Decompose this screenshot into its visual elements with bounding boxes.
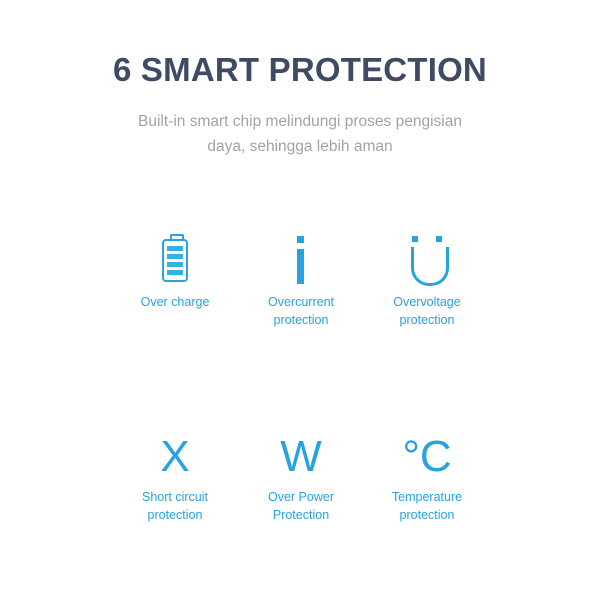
feature-item-overcurrent: Overcurrent protection bbox=[238, 232, 364, 329]
icon-container: °C bbox=[402, 427, 451, 479]
page-subtitle: Built-in smart chip melindungi proses pe… bbox=[135, 110, 465, 160]
feature-label: Over Power Protection bbox=[268, 488, 334, 524]
u-dot-left bbox=[412, 236, 418, 242]
battery-bar bbox=[167, 262, 183, 267]
feature-label: Short circuit protection bbox=[142, 488, 208, 524]
icon-container bbox=[405, 232, 449, 284]
icon-container: W bbox=[280, 427, 322, 479]
feature-item-short-circuit: X Short circuit protection bbox=[112, 427, 238, 524]
battery-bar bbox=[167, 270, 183, 275]
feature-label: Temperature protection bbox=[392, 488, 462, 524]
short-circuit-x-icon: X bbox=[160, 435, 189, 479]
page-title: 6 SMART PROTECTION bbox=[0, 52, 600, 88]
battery-body bbox=[162, 239, 188, 282]
icon-container bbox=[159, 232, 191, 284]
icon-container bbox=[294, 232, 308, 284]
i-dot bbox=[297, 236, 304, 243]
i-stem bbox=[297, 249, 304, 284]
feature-item-over-power: W Over Power Protection bbox=[238, 427, 364, 524]
u-shape bbox=[411, 247, 449, 286]
feature-item-overvoltage: Overvoltage protection bbox=[364, 232, 490, 329]
feature-item-over-charge: Over charge bbox=[112, 232, 238, 329]
feature-label: Over charge bbox=[141, 293, 210, 311]
battery-bar bbox=[167, 254, 183, 259]
voltage-u-icon bbox=[405, 236, 449, 284]
current-i-icon bbox=[294, 236, 308, 284]
battery-icon bbox=[159, 234, 191, 284]
temperature-c-icon: °C bbox=[402, 435, 451, 479]
power-w-icon: W bbox=[280, 435, 322, 479]
header: 6 SMART PROTECTION Built-in smart chip m… bbox=[0, 52, 600, 160]
battery-bar bbox=[167, 246, 183, 251]
protection-feature-grid: Over charge Overcurrent protection Ov bbox=[112, 232, 490, 525]
promo-graphic: 6 SMART PROTECTION Built-in smart chip m… bbox=[0, 0, 600, 600]
feature-item-temperature: °C Temperature protection bbox=[364, 427, 490, 524]
icon-container: X bbox=[160, 427, 189, 479]
feature-label: Overvoltage protection bbox=[393, 293, 460, 329]
feature-label: Overcurrent protection bbox=[268, 293, 334, 329]
u-dot-right bbox=[436, 236, 442, 242]
